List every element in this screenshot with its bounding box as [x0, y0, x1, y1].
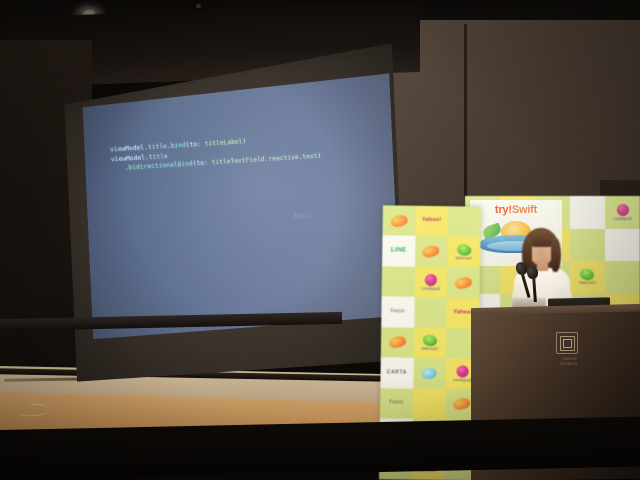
speaker-face-shading: [532, 244, 551, 264]
ceiling-highlight: [196, 4, 201, 8]
sponsor-tile: [500, 196, 535, 229]
sponsor-logo-text: Yahoo!: [453, 310, 473, 316]
conference-photo-scene: viewModel.title.bind(to: titleLabel) vie…: [0, 0, 640, 480]
sponsor-tile: mercari: [447, 237, 480, 268]
microphone-stem: [532, 276, 537, 302]
code-token: ): [317, 153, 321, 160]
blob-orange-icon: [454, 275, 473, 290]
sponsor-tile: [605, 261, 640, 294]
code-token: title: [149, 152, 168, 160]
code-token: (to:: [186, 141, 205, 149]
sponsor-logo-text: Fenrir: [389, 401, 403, 406]
screen-surface: [81, 73, 401, 339]
code-token: titleLabel: [204, 138, 242, 147]
blob-teal-icon: [421, 367, 437, 380]
sponsor-tile: LINE: [382, 236, 415, 267]
sponsor-logo-text: Yahoo!: [422, 218, 442, 224]
venue-emblem-icon: [556, 332, 578, 354]
sponsor-logo-mark: mercari: [422, 335, 439, 351]
sponsor-logo-mark: [422, 368, 437, 379]
sponsor-logo-mark: mercari: [579, 269, 596, 285]
code-token: viewModel: [111, 154, 146, 163]
blob-orange-icon: [388, 335, 407, 350]
sponsor-tile: Fenrir: [381, 297, 414, 328]
sponsor-tile: [381, 327, 414, 358]
blob-orange-icon: [452, 397, 471, 412]
sponsor-logo-caption: cookpad: [613, 217, 632, 221]
wall-panel-seam: [464, 24, 467, 220]
code-token: bind: [170, 142, 186, 150]
blob-green-icon: [456, 243, 472, 256]
sponsor-logo-caption: mercari: [456, 256, 473, 260]
blob-purple-icon: [617, 204, 629, 216]
sponsor-logo-caption: cookpad: [421, 286, 440, 290]
sponsor-tile: [382, 205, 415, 236]
sponsor-logo-mark: [423, 246, 440, 257]
code-token: titleTextField: [211, 156, 264, 166]
blob-green-icon: [580, 268, 595, 281]
blob-purple-icon: [456, 365, 468, 377]
sponsor-logo-text: LINE: [391, 248, 407, 255]
sponsor-logo-mark: [455, 277, 472, 288]
blob-orange-icon: [422, 244, 441, 259]
code-token: viewModel: [110, 144, 145, 153]
blob-purple-icon: [425, 273, 437, 285]
sponsor-logo-mark: [390, 215, 407, 226]
slide-edge-text: Bond: [294, 212, 311, 221]
sponsor-tile: [413, 388, 446, 419]
sponsor-tile: [448, 206, 481, 237]
sponsor-tile: [447, 267, 480, 298]
sponsor-tile: [382, 266, 415, 297]
emblem-inner-square: [563, 339, 572, 348]
sponsor-tile: cookpad: [605, 196, 640, 229]
sponsor-tile: [414, 297, 447, 328]
sponsor-tile: CARTA: [380, 358, 413, 389]
sponsor-logo-mark: [453, 399, 470, 410]
code-token: (to:: [193, 159, 212, 167]
sponsor-tile: [605, 229, 640, 262]
sponsor-tile: Fenrir: [380, 388, 413, 419]
sponsor-logo-text: Fenrir: [391, 309, 405, 314]
sponsor-tile: mercari: [413, 328, 446, 359]
code-token: text: [302, 153, 318, 161]
sponsor-tile: [535, 196, 570, 229]
sponsor-logo-mark: [389, 337, 406, 348]
sponsor-logo-mark: cookpad: [453, 365, 472, 382]
podium-logo-line2: STUDIO: [548, 361, 590, 366]
sponsor-logo-mark: mercari: [456, 244, 473, 260]
projection-screen: viewModel.title.bind(to: titleLabel) vie…: [62, 43, 407, 381]
sponsor-logo-mark: cookpad: [421, 273, 440, 290]
sponsor-logo-text: CARTA: [387, 370, 407, 375]
code-token: title: [148, 143, 167, 151]
sponsor-logo-caption: mercari: [422, 347, 439, 351]
blob-orange-icon: [390, 213, 409, 228]
code-token: reactive: [268, 154, 299, 163]
sponsor-logo-caption: mercari: [579, 281, 596, 285]
sponsor-tile: [415, 236, 448, 267]
podium-logo-text: TOKYO STUDIO: [548, 356, 590, 368]
sponsor-tile: cookpad: [414, 267, 447, 298]
code-token: ): [242, 138, 246, 145]
sponsor-logo-mark: cookpad: [613, 204, 632, 221]
sponsor-tile: [413, 358, 446, 389]
sponsor-tile: [570, 196, 605, 229]
microphone-group: [512, 262, 566, 322]
sponsor-tile: Yahoo!: [415, 206, 448, 237]
sponsor-logo-caption: cookpad: [453, 378, 472, 382]
